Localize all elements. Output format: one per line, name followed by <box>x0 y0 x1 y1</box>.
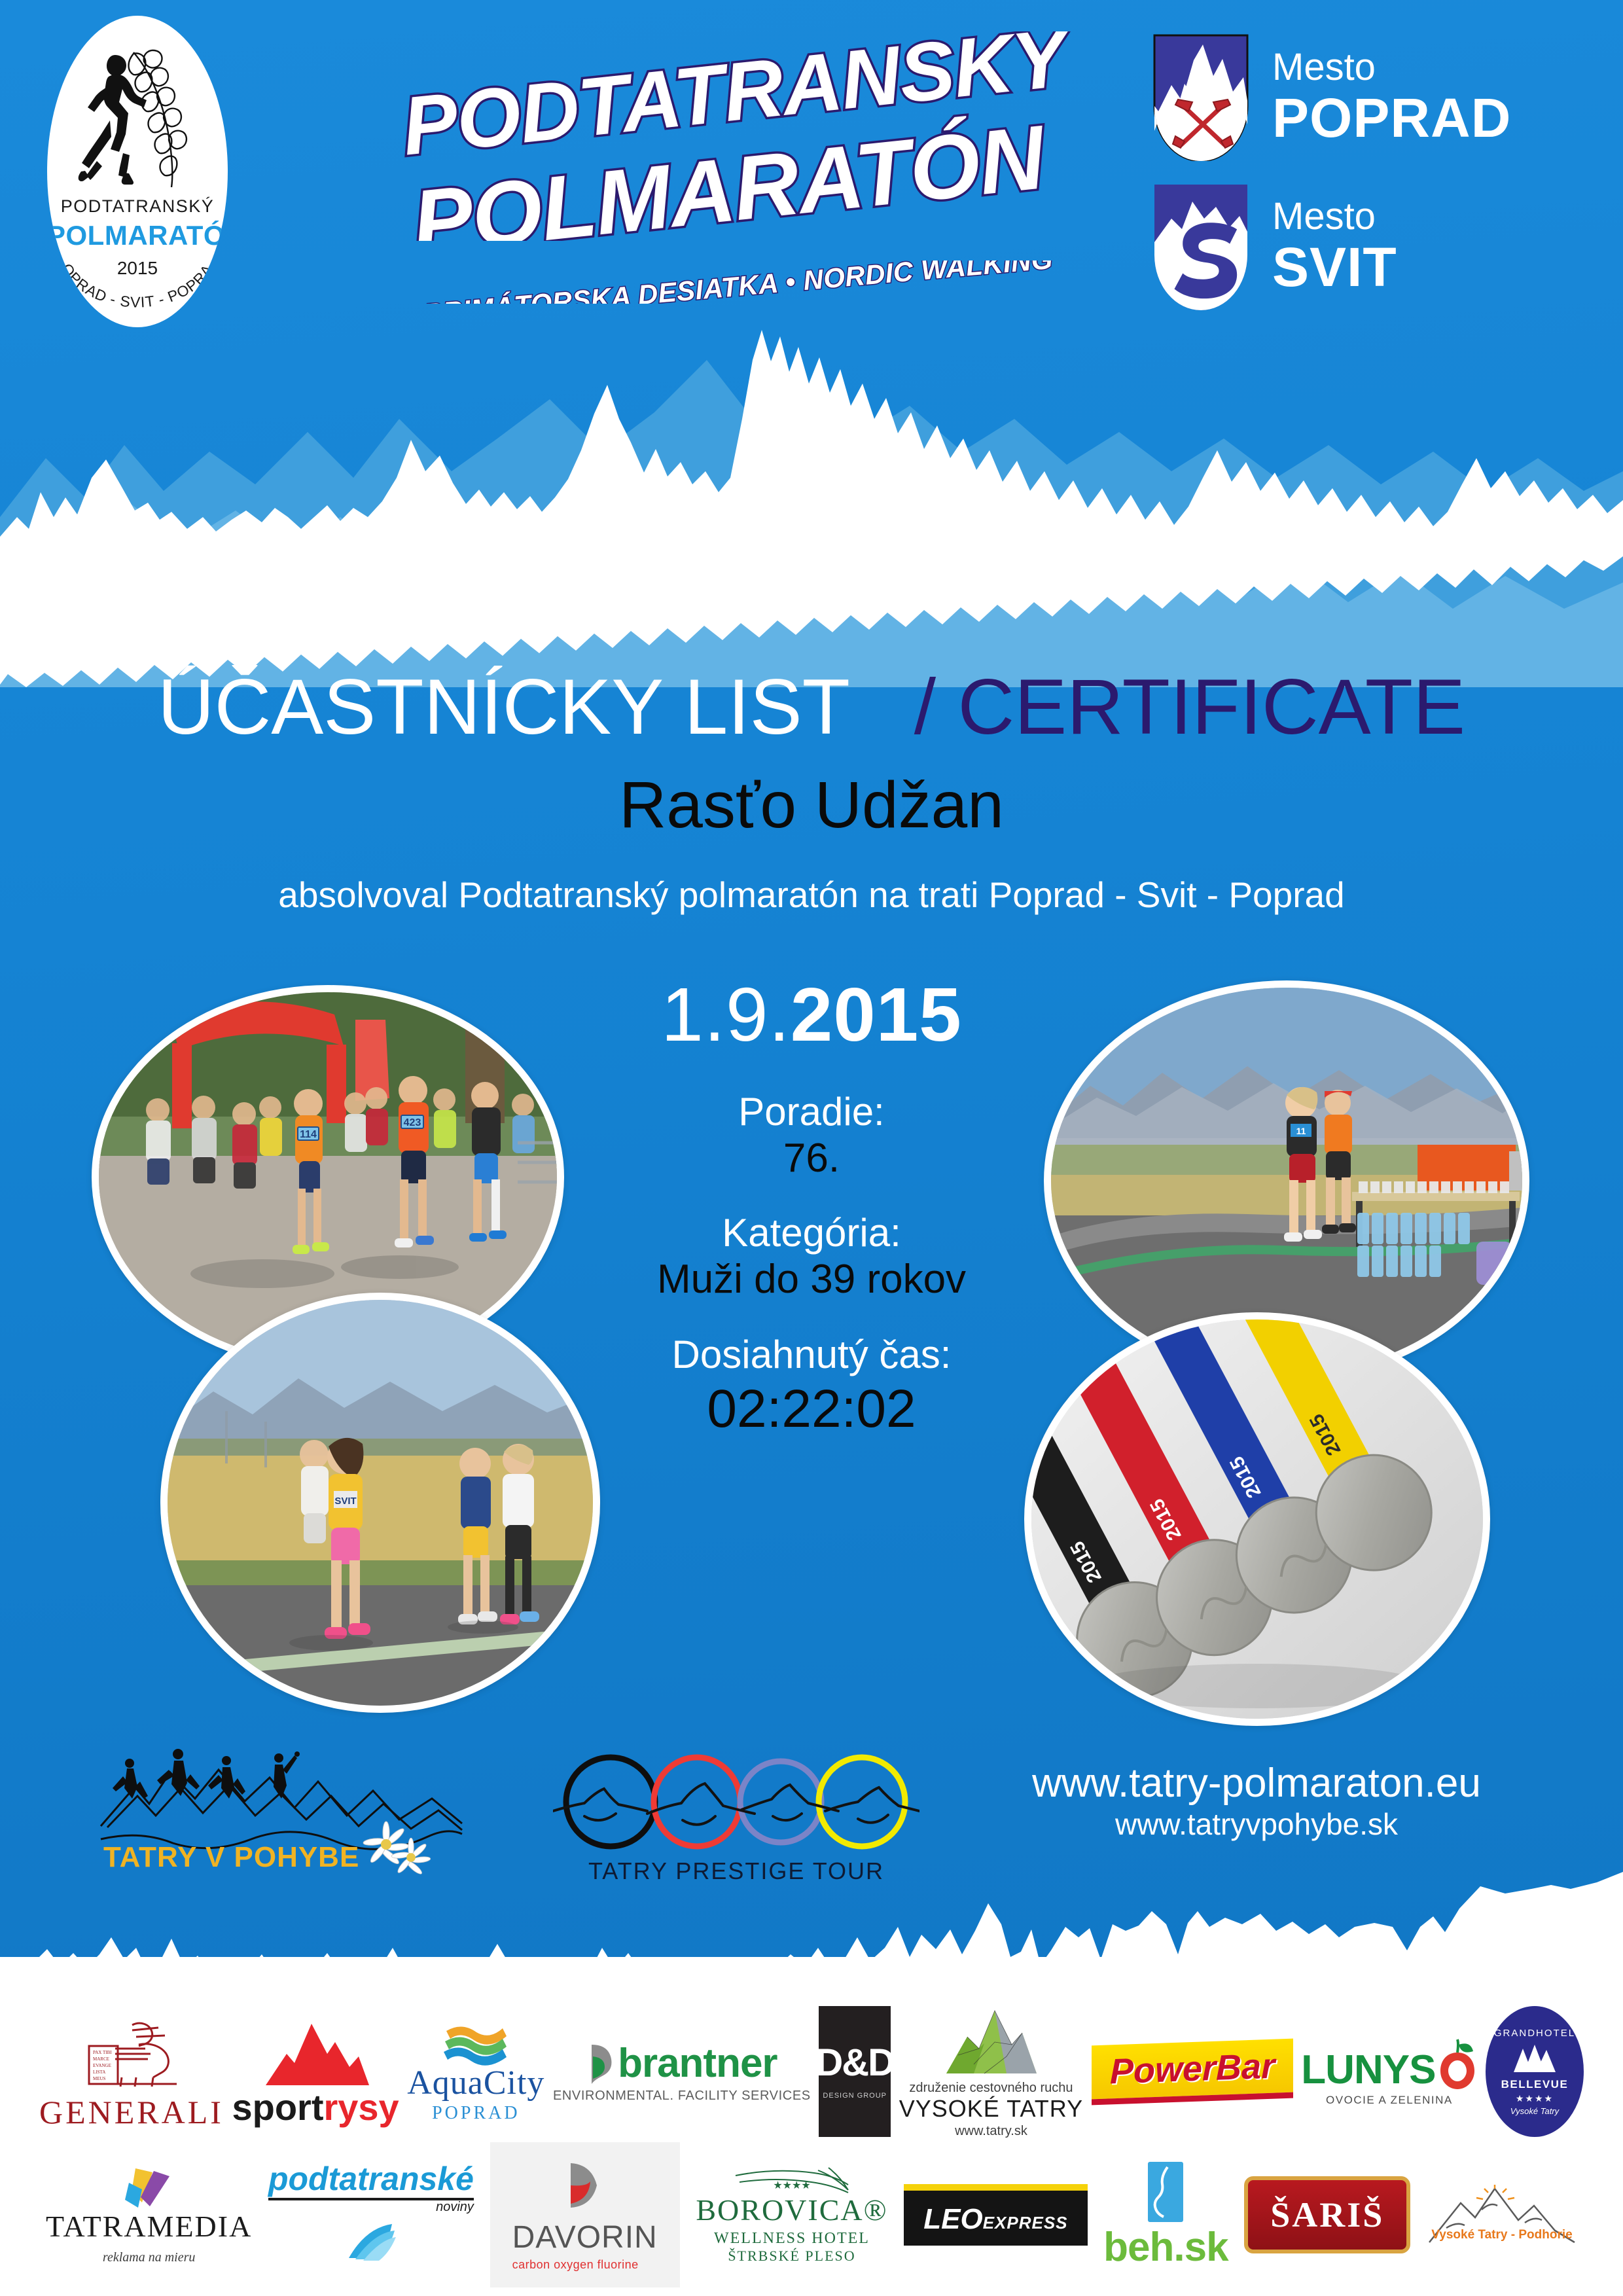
svg-text:POPRAD - SVIT - POPRAD: POPRAD - SVIT - POPRAD <box>47 254 216 311</box>
svg-text:MARCE: MARCE <box>93 2056 109 2062</box>
url-secondary[interactable]: www.tatryvpohybe.sk <box>929 1806 1584 1844</box>
city-logo-svit: Mesto SVIT <box>1152 182 1397 310</box>
sponsor-sportrysy-a: sport <box>232 2089 323 2126</box>
emblem-line2: POLMARATÓN <box>47 220 228 251</box>
event-title: PODTATRANSKÝ POLMARATÓN <box>399 31 1145 241</box>
city-logo-poprad: Mesto POPRAD <box>1152 33 1511 161</box>
laurel-branch-icon <box>124 47 198 191</box>
borovica-branch-icon: ★★★★ <box>733 2166 851 2195</box>
sponsor-saris: ŠARIŠ <box>1244 2176 1410 2253</box>
event-emblem: PODTATRANSKÝ POLMARATÓN 2015 POPRAD - SV… <box>47 16 228 327</box>
svg-text:SVIT: SVIT <box>334 1496 356 1507</box>
svg-text:PRIMÁTORSKA DESIATKA • NORDIC: PRIMÁTORSKA DESIATKA • NORDIC WALKING <box>423 260 1054 304</box>
tatry-prestige-tour-logo: TATRY PRESTIGE TOUR <box>553 1751 919 1892</box>
city-label-small: Mesto <box>1272 48 1511 86</box>
time-label: Dosiahnutý čas: <box>576 1332 1047 1377</box>
poprad-coat-of-arms-icon <box>1152 33 1250 161</box>
sponsor-vt-url[interactable]: www.tatry.sk <box>955 2125 1027 2138</box>
svg-text:423: 423 <box>404 1117 421 1128</box>
emblem-line1: PODTATRANSKÝ <box>47 196 228 217</box>
ring-blue <box>740 1761 821 1842</box>
city-label-small: Mesto <box>1272 198 1397 236</box>
url-primary[interactable]: www.tatry-polmaraton.eu <box>929 1761 1584 1806</box>
svit-coat-of-arms-icon <box>1152 182 1250 310</box>
certificate-statement: absolvoval Podtatranský polmaratón na tr… <box>0 877 1623 913</box>
sponsor-aquacity: AquaCity POPRAD <box>407 2020 544 2123</box>
brantner-mark-icon <box>586 2041 615 2087</box>
sponsor-davorin-name: DAVORIN <box>512 2222 658 2253</box>
sponsor-sportrysy-b: rysy <box>323 2089 399 2126</box>
svg-text:11: 11 <box>1296 1126 1306 1136</box>
rank-value: 76. <box>576 1134 1047 1183</box>
sponsor-grandhotel-bellevue: GRANDHOTEL BELLEVUE ★★★★ Vysoké Tatry <box>1486 2006 1584 2137</box>
city-label-big: SVIT <box>1272 240 1397 295</box>
photo-field-runners: SVIT <box>160 1293 600 1713</box>
certificate-title-en: / CERTIFICATE <box>914 663 1465 751</box>
sponsor-aquacity-name: AquaCity <box>407 2066 544 2100</box>
lunys-apple-icon <box>1438 2038 1477 2090</box>
sponsor-vt-sub: združenie cestovného ruchu <box>909 2081 1073 2094</box>
sponsor-borovica-sub: WELLNESS HOTEL <box>714 2231 870 2246</box>
sponsor-lunys-tagline: OVOCIE A ZELENINA <box>1326 2094 1453 2106</box>
sponsor-grand-stars: ★★★★ <box>1516 2094 1554 2103</box>
vysoke-tatry-peaks-icon <box>938 2005 1043 2077</box>
result-block: 1.9.2015 Poradie: 76. Kategória: Muži do… <box>576 975 1047 1469</box>
sponsor-dd-name: D&D <box>815 2044 894 2082</box>
aquacity-wave-icon <box>440 2020 512 2066</box>
ring-red <box>654 1757 740 1846</box>
svg-text:MEUS: MEUS <box>93 2076 106 2081</box>
svg-text:LISTA: LISTA <box>93 2070 105 2075</box>
sponsor-generali-name: GENERALI <box>39 2096 224 2128</box>
sponsor-generali: PAX TIBIMARCE EVANGELISTAMEUS GENERALI <box>39 2015 224 2128</box>
certificate-title-sk: ÚČASTNÍCKY LIST <box>158 663 849 751</box>
event-subtitle: PRIMÁTORSKA DESIATKA • NORDIC WALKING <box>419 260 1145 304</box>
sponsor-tatramedia-tagline: reklama na mieru <box>103 2251 195 2264</box>
sponsor-aquacity-city: POPRAD <box>432 2104 520 2123</box>
svg-text:★★★★: ★★★★ <box>773 2180 810 2191</box>
certificate-page: PODTATRANSKÝ POLMARATÓN 2015 POPRAD - SV… <box>0 0 1623 2296</box>
emblem-arc-text: POPRAD - SVIT - POPRAD <box>47 254 228 327</box>
sponsor-lunys-name: LUNYS <box>1301 2050 1435 2090</box>
website-urls: www.tatry-polmaraton.eu www.tatryvpohybe… <box>929 1761 1584 1844</box>
certificate-title: ÚČASTNÍCKY LIST / CERTIFICATE <box>0 668 1623 746</box>
sponsor-section: PAX TIBIMARCE EVANGELISTAMEUS GENERALI s… <box>0 1996 1623 2283</box>
sponsor-brantner-tagline: ENVIRONMENTAL. FACILITY SERVICES <box>553 2089 811 2102</box>
sponsor-borovica-location: ŠTRBSKÉ PLESO <box>728 2249 855 2263</box>
time-value: 02:22:02 <box>576 1377 1047 1441</box>
sponsor-grand-top: GRANDHOTEL <box>1494 2028 1575 2038</box>
sponsor-powerbar: PowerBar <box>1092 2038 1293 2105</box>
sponsor-behsk: beh.sk <box>1103 2162 1228 2268</box>
category-label: Kategória: <box>576 1210 1047 1255</box>
sponsor-grand-region: Vysoké Tatry <box>1510 2107 1559 2115</box>
davorin-mark-icon <box>567 2159 603 2212</box>
sponsor-tatramedia: TATRAMEDIA reklama na mieru <box>46 2166 252 2264</box>
svg-text:TATRY V POHYBE: TATRY V POHYBE <box>103 1841 359 1873</box>
bellevue-peaks-icon <box>1510 2042 1560 2075</box>
mountain-silhouette-band <box>0 321 1623 687</box>
behsk-figure-icon <box>1148 2162 1183 2222</box>
sponsor-saris-name: ŠARIŠ <box>1270 2197 1384 2233</box>
category-value: Muži do 39 rokov <box>576 1255 1047 1304</box>
sponsor-davorin: DAVORIN carbon oxygen fluorine <box>490 2142 680 2287</box>
sponsor-leo-name: LEO <box>923 2203 982 2235</box>
race-date-prefix: 1.9. <box>661 972 790 1057</box>
race-date: 1.9.2015 <box>576 975 1047 1055</box>
generali-lion-icon: PAX TIBIMARCE EVANGELISTAMEUS <box>76 2015 187 2093</box>
sponsor-davorin-tagline: carbon oxygen fluorine <box>512 2259 658 2270</box>
rank-label: Poradie: <box>576 1089 1047 1134</box>
sponsor-behsk-name: beh.sk <box>1103 2227 1228 2268</box>
sponsor-lunys: LUNYS OVOCIE A ZELENINA <box>1301 2038 1477 2106</box>
svg-text:EVANGE: EVANGE <box>93 2063 111 2068</box>
race-date-year: 2015 <box>791 972 962 1057</box>
sponsor-row-2: TATRAMEDIA reklama na mieru podtatranské… <box>0 2147 1623 2283</box>
sponsor-powerbar-name: PowerBar <box>1110 2048 1275 2089</box>
sponsor-podnov-name: podtatranské <box>268 2162 474 2200</box>
sponsor-brantner-name: brantner <box>618 2043 777 2084</box>
sponsor-vt-name: VYSOKÉ TATRY <box>899 2097 1083 2121</box>
sponsor-vysoke-tatry-podhorie: Vysoké Tatry - Podhorie <box>1427 2183 1577 2246</box>
photo-medals: 2015 2015 2015 2015 <box>1024 1312 1490 1726</box>
sponsor-podnov-sub: noviny <box>436 2200 474 2214</box>
ring-black <box>566 1757 655 1846</box>
sponsor-d-and-d: D&D DESIGN GROUP <box>819 2006 891 2137</box>
sponsor-brantner: brantner ENVIRONMENTAL. FACILITY SERVICE… <box>553 2041 811 2102</box>
participant-name: Rasťo Udžan <box>0 772 1623 838</box>
sponsor-leo-express: LEOEXPRESS <box>904 2184 1087 2246</box>
sponsor-dd-tagline: DESIGN GROUP <box>823 2092 887 2100</box>
sponsor-borovica: ★★★★ BOROVICA® WELLNESS HOTEL ŠTRBSKÉ PL… <box>696 2166 887 2263</box>
sponsor-podtatranske-noviny: podtatranské noviny <box>268 2162 474 2267</box>
sponsor-sportrysy: sportrysy <box>232 2017 399 2126</box>
svg-text:114: 114 <box>300 1129 317 1140</box>
sponsor-leo-sub: EXPRESS <box>983 2213 1068 2233</box>
sponsor-vysoke-tatry: združenie cestovného ruchu VYSOKÉ TATRY … <box>899 2005 1083 2138</box>
sponsor-grand-name: BELLEVUE <box>1501 2079 1569 2090</box>
svg-text:Vysoké Tatry - Podhorie: Vysoké Tatry - Podhorie <box>1431 2228 1572 2242</box>
svg-text:TATRY PRESTIGE TOUR: TATRY PRESTIGE TOUR <box>588 1857 884 1884</box>
tatramedia-mark-icon <box>113 2166 185 2212</box>
sponsor-row-1: PAX TIBIMARCE EVANGELISTAMEUS GENERALI s… <box>0 1996 1623 2147</box>
tatry-v-pohybe-logo: TATRY V POHYBE <box>98 1748 465 1878</box>
sportrysy-peak-icon <box>257 2017 374 2089</box>
sponsor-borovica-name: BOROVICA® <box>696 2195 887 2225</box>
sponsor-tatramedia-name: TATRAMEDIA <box>46 2212 252 2242</box>
city-label-big: POPRAD <box>1272 90 1511 145</box>
svg-text:PAX TIBI: PAX TIBI <box>93 2050 112 2055</box>
podnov-pages-icon <box>345 2221 397 2267</box>
vtp-peaks-icon: Vysoké Tatry - Podhorie <box>1427 2183 1577 2246</box>
